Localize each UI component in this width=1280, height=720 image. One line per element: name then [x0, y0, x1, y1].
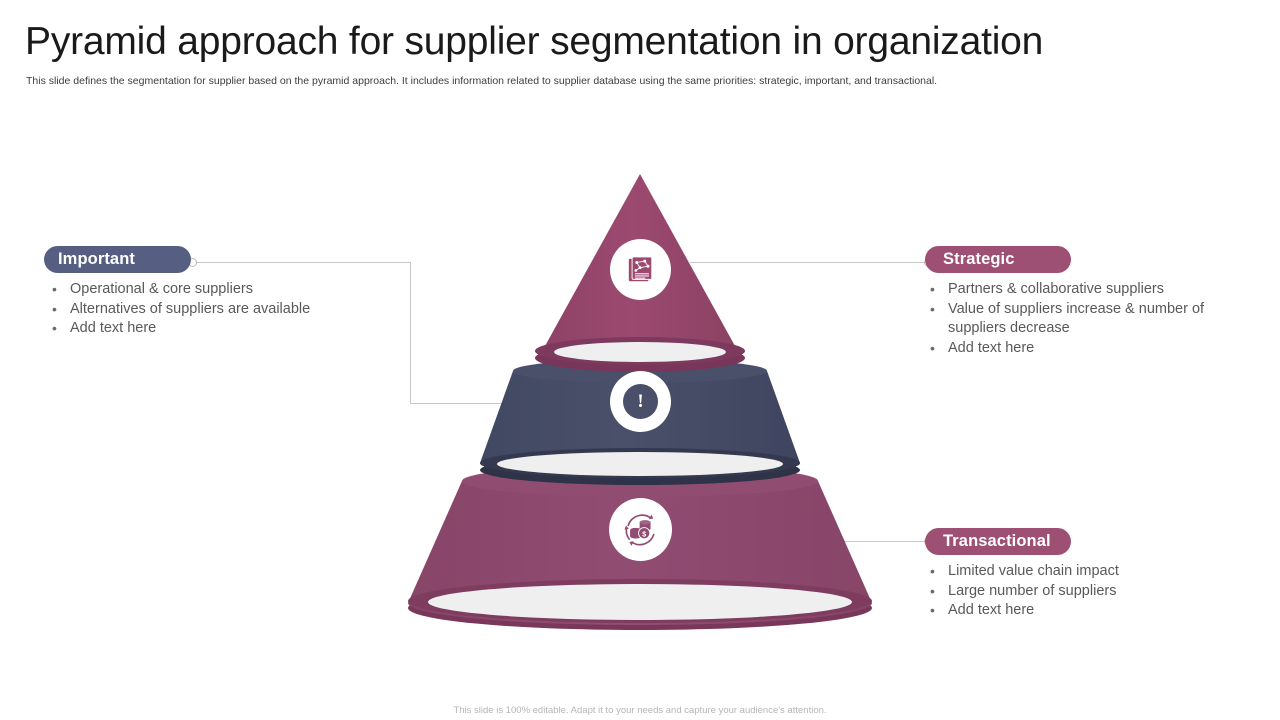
list-item-label: Large number of suppliers	[948, 582, 1250, 602]
list-item: • Value of suppliers increase & number o…	[930, 300, 1250, 339]
exclamation-icon: !	[610, 371, 671, 432]
bullet-glyph: •	[930, 280, 948, 300]
connector-important-horizontal-top	[193, 262, 411, 263]
list-item-label: Add text here	[70, 319, 392, 339]
exclamation-glyph: !	[623, 384, 658, 419]
page-subtitle: This slide defines the segmentation for …	[26, 74, 937, 88]
list-item: • Add text here	[930, 601, 1250, 621]
list-item: • Add text here	[52, 319, 392, 339]
list-item-label: Limited value chain impact	[948, 562, 1250, 582]
money-cycle-icon: $	[609, 498, 672, 561]
bullet-list-strategic: • Partners & collaborative suppliers • V…	[930, 280, 1250, 358]
bullet-glyph: •	[930, 582, 948, 602]
list-item-label: Partners & collaborative suppliers	[948, 280, 1250, 300]
bullet-glyph: •	[930, 601, 948, 621]
badge-transactional[interactable]: Transactional	[925, 528, 1071, 555]
list-item-label: Alternatives of suppliers are available	[70, 300, 392, 320]
bullet-glyph: •	[930, 339, 948, 359]
page-title: Pyramid approach for supplier segmentati…	[25, 18, 1043, 66]
badge-strategic[interactable]: Strategic	[925, 246, 1071, 273]
bullet-list-important: • Operational & core suppliers • Alterna…	[52, 280, 392, 339]
badge-important[interactable]: Important	[44, 246, 191, 273]
list-item: • Partners & collaborative suppliers	[930, 280, 1250, 300]
slide-footer-note: This slide is 100% editable. Adapt it to…	[0, 705, 1280, 716]
list-item-label: Value of suppliers increase & number of …	[948, 300, 1250, 339]
svg-text:$: $	[642, 529, 646, 538]
bullet-glyph: •	[930, 562, 948, 582]
list-item-label: Add text here	[948, 339, 1250, 359]
bullet-glyph: •	[52, 280, 70, 300]
bullet-glyph: •	[52, 300, 70, 320]
list-item: • Large number of suppliers	[930, 582, 1250, 602]
list-item: • Limited value chain impact	[930, 562, 1250, 582]
list-item: • Add text here	[930, 339, 1250, 359]
bullet-glyph: •	[930, 300, 948, 320]
list-item-label: Operational & core suppliers	[70, 280, 392, 300]
bullet-list-transactional: • Limited value chain impact • Large num…	[930, 562, 1250, 621]
bullet-glyph: •	[52, 319, 70, 339]
list-item: • Alternatives of suppliers are availabl…	[52, 300, 392, 320]
list-item: • Operational & core suppliers	[52, 280, 392, 300]
strategy-document-icon	[610, 239, 671, 300]
list-item-label: Add text here	[948, 601, 1250, 621]
